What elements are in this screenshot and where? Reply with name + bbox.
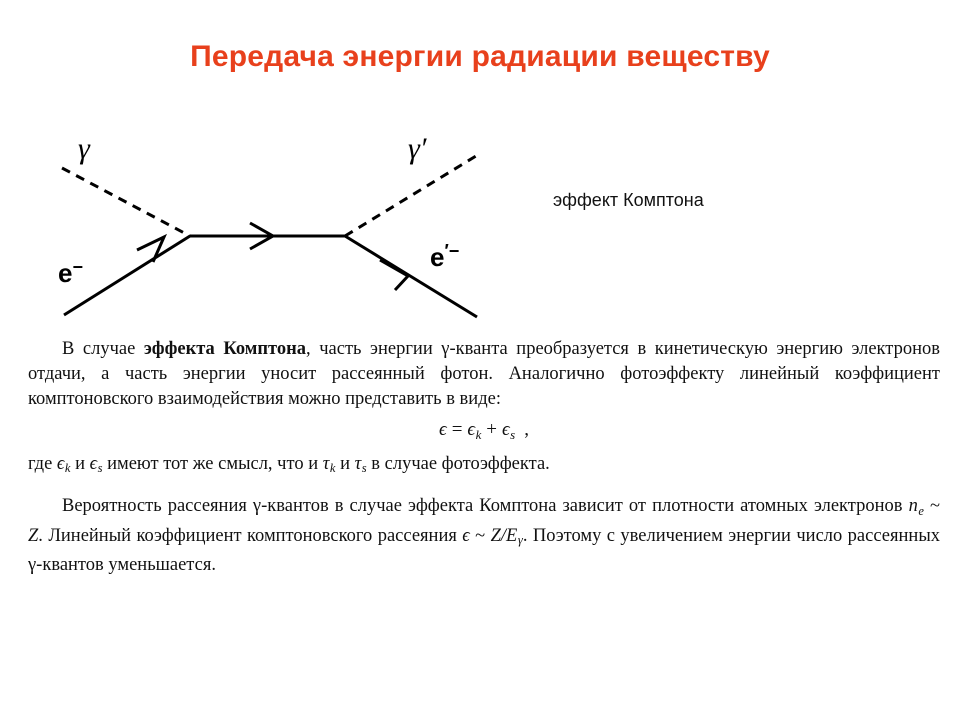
page-title: Передача энергии радиации веществу (0, 40, 960, 74)
paragraph-3-symbol-z-over-egamma: Z/Eγ (491, 526, 523, 546)
formula-trailing-comma: , (515, 419, 529, 440)
formula-epsilon-decomposition: ϵ=ϵk+ϵs, (439, 419, 529, 443)
paragraph-3-part2: ~ (924, 496, 940, 516)
outgoing-photon-label: γ′ (408, 132, 427, 165)
formula-term1-base: ϵ (467, 419, 475, 440)
formula-term2-base: ϵ (502, 419, 510, 440)
incoming-electron-label: e− (58, 257, 83, 288)
formula-row: ϵ=ϵk+ϵs, (28, 419, 940, 443)
paragraph-2-symbol-tau-s: τs (355, 454, 367, 474)
paragraph-2-part1: где (28, 454, 57, 474)
paragraph-2-symbol-epsilon-k: ϵk (57, 454, 71, 474)
outgoing-photon-line (345, 156, 476, 236)
paragraph-3-symbol-epsilon: ϵ (462, 526, 469, 546)
diagram-caption: эффект Комптона (553, 190, 704, 211)
outgoing-electron-label: e′− (430, 241, 459, 272)
body-text-block: В случае эффекта Комптона, часть энергии… (28, 337, 940, 578)
paragraph-2: где ϵk и ϵs имеют тот же смысл, что и τk… (28, 452, 940, 482)
paragraph-3-part1: Вероятность рассеяния γ-квантов в случае… (62, 496, 909, 516)
feynman-diagram-svg: γ γ′ e− e′− (40, 110, 520, 335)
paragraph-1-bold-term: эффекта Комптона (144, 339, 306, 359)
paragraph-2-part3: имеют тот же смысл, что и (102, 454, 322, 474)
paragraph-2-part5: в случае фотоэффекта. (367, 454, 550, 474)
formula-plus: + (481, 419, 502, 440)
paragraph-2-part4: и (335, 454, 354, 474)
compton-feynman-diagram: γ γ′ e− e′− (40, 110, 520, 335)
p2-sym2-base: ϵ (90, 454, 97, 474)
paragraph-1-lead: В случае (62, 339, 144, 359)
incoming-photon-label: γ (78, 132, 91, 165)
paragraph-3-part4: ~ (470, 526, 491, 546)
paragraph-3: Вероятность рассеяния γ-квантов в случае… (28, 494, 940, 578)
formula-lhs: ϵ (439, 419, 447, 440)
paragraph-3-part3: . Линейный коэффициент комптоновского ра… (38, 526, 462, 546)
paragraph-3-symbol-ne: ne (909, 496, 924, 516)
paragraph-2-part2: и (70, 454, 89, 474)
paragraph-2-symbol-tau-k: τk (323, 454, 336, 474)
p3-sym1-base: n (909, 496, 918, 516)
paragraph-spacer (28, 481, 940, 494)
paragraph-2-symbol-epsilon-s: ϵs (90, 454, 103, 474)
incoming-photon-line (62, 168, 190, 236)
p3-sym4-base: Z/E (491, 526, 518, 546)
paragraph-3-symbol-z: Z (28, 526, 38, 546)
formula-equals: = (447, 419, 468, 440)
incoming-electron-arrow-icon (137, 237, 164, 262)
paragraph-1: В случае эффекта Комптона, часть энергии… (28, 337, 940, 412)
